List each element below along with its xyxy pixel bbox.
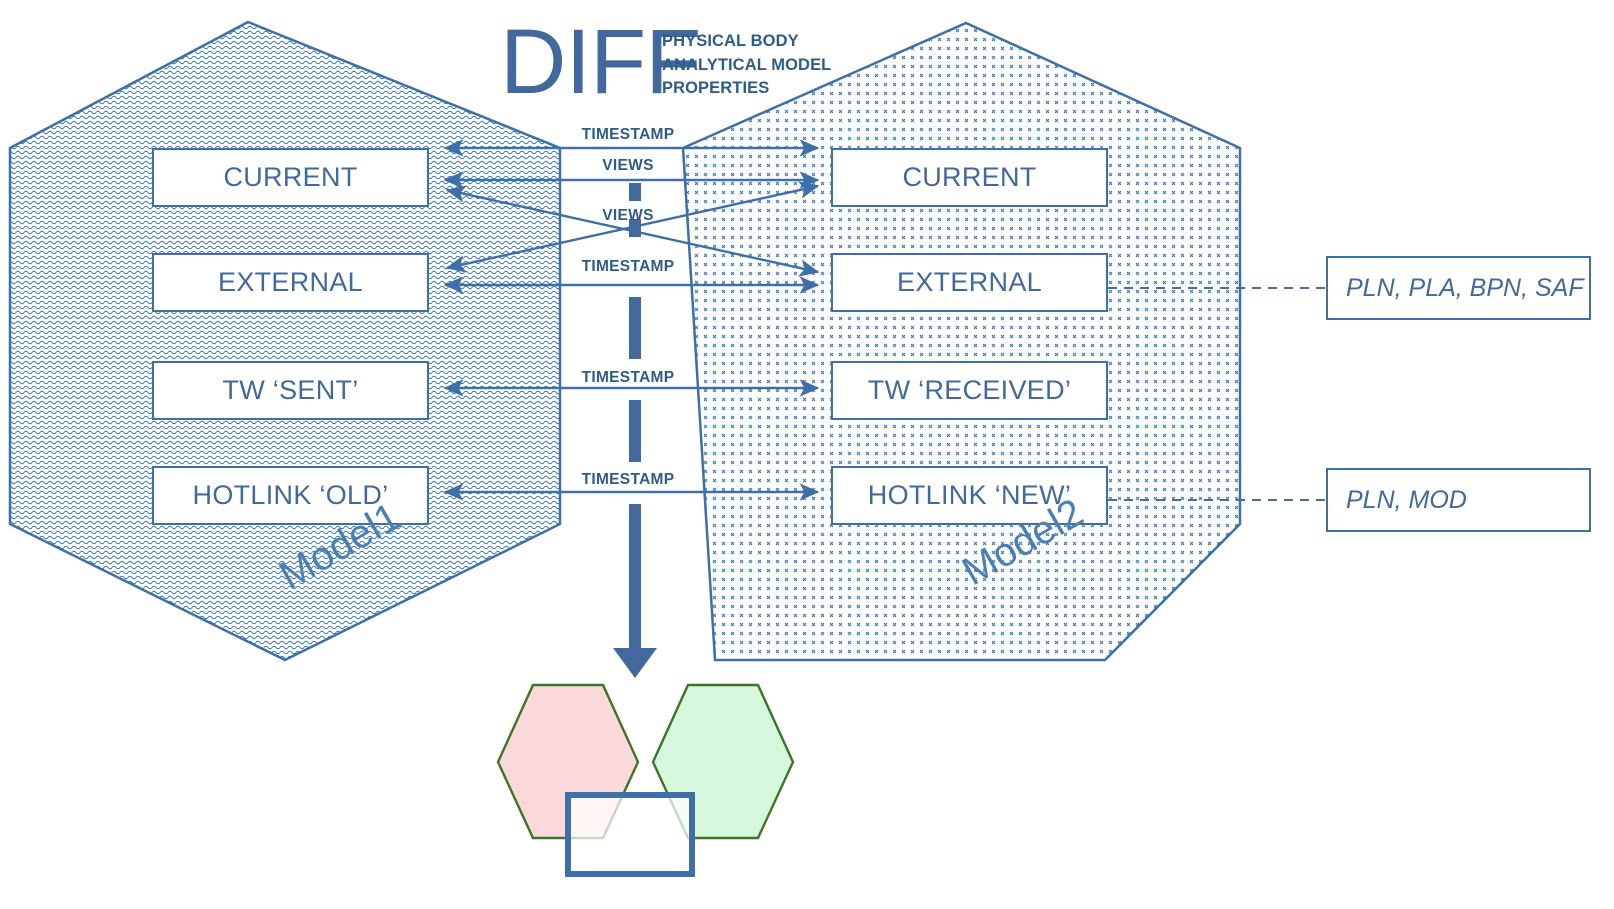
edge-label-views-2: VIEWS xyxy=(602,207,653,225)
edge-label-timestamp-2: TIMESTAMP xyxy=(582,258,675,276)
model2-node-external[interactable]: EXTERNAL xyxy=(831,253,1108,312)
model1-node-tw-sent[interactable]: TW ‘SENT’ xyxy=(152,361,429,420)
model1-node-external[interactable]: EXTERNAL xyxy=(152,253,429,312)
diagram-canvas: DIFF PHYSICAL BODY ANALYTICAL MODEL PROP… xyxy=(0,0,1614,909)
venn-result-rect xyxy=(568,795,692,874)
diagram-vector-layer xyxy=(0,0,1614,909)
model2-node-tw-received[interactable]: TW ‘RECEIVED’ xyxy=(831,361,1108,420)
model1-node-current[interactable]: CURRENT xyxy=(152,148,429,207)
property-box-external[interactable]: PLN, PLA, BPN, SAF xyxy=(1326,256,1591,320)
edge-label-timestamp-1: TIMESTAMP xyxy=(582,126,675,144)
property-box-hotlink[interactable]: PLN, MOD xyxy=(1326,468,1591,532)
result-venn xyxy=(498,685,793,874)
model2-node-current[interactable]: CURRENT xyxy=(831,148,1108,207)
edge-label-views-1: VIEWS xyxy=(602,157,653,175)
edge-label-timestamp-4: TIMESTAMP xyxy=(582,471,675,489)
edge-label-timestamp-3: TIMESTAMP xyxy=(582,369,675,387)
